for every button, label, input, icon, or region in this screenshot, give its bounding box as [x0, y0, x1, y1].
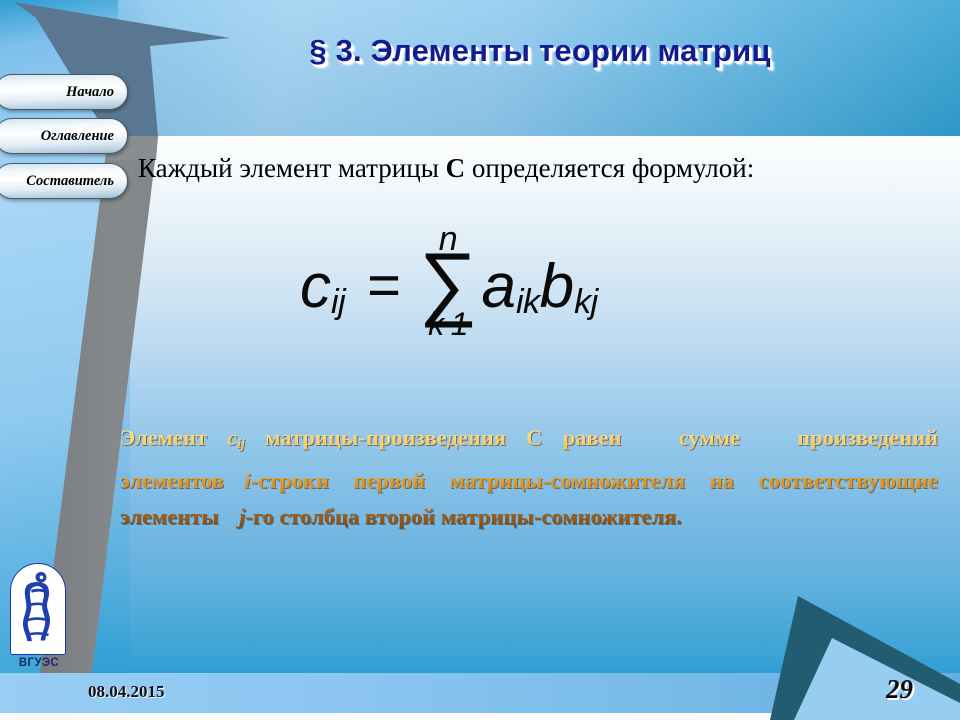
nav-button-contents-label: Оглавление [41, 128, 114, 145]
explanation-paragraph: Элементcijматрицы-произведенияCравен сум… [120, 420, 938, 535]
formula-summation: n ∑ k 1 [419, 224, 477, 340]
nav-button-contents[interactable]: Оглавление [0, 118, 128, 154]
paragraph-part-1: Элемент [120, 425, 207, 450]
formula-term-b-subscript: kj [574, 283, 598, 321]
logo-arch-frame [10, 563, 66, 655]
statement-matrix-symbol: C [446, 153, 466, 183]
paragraph-var-c: cij [227, 425, 245, 450]
university-logo: ВГУЭС [10, 563, 68, 675]
formula-equals-sign: = [367, 252, 401, 319]
nav-button-author[interactable]: Составитель [0, 163, 128, 199]
slide-page-number: 29 [886, 674, 913, 705]
nav-button-author-label: Составитель [26, 173, 114, 190]
slide-date: 08.04.2015 [88, 682, 165, 702]
slide-canvas: § 3. Элементы теории матриц Начало Оглав… [0, 0, 960, 720]
formula-sum-lower-var: k 1 [428, 306, 468, 342]
paragraph-part-5: -го столбца второй матрицы-сомножителя. [245, 504, 682, 529]
logo-label: ВГУЭС [10, 657, 68, 669]
formula-lhs-base: c [300, 252, 331, 321]
statement-text-pre: Каждый элемент матрицы [138, 153, 446, 183]
formula-lhs-subscript: ij [331, 283, 345, 321]
formula-block: cij = n ∑ k 1 aikbkj [300, 210, 598, 326]
statement-line: Каждый элемент матрицы C определяется фо… [138, 153, 754, 184]
formula-term-a-base: a [482, 252, 516, 321]
page-title: § 3. Элементы теории матриц [170, 33, 910, 69]
formula-term-a-subscript: ik [516, 283, 540, 321]
formula-term-b-base: b [540, 252, 574, 321]
formula-rhs-terms: aikbkj [482, 256, 598, 319]
formula-sum-lower-limit: k 1 [428, 308, 468, 340]
statement-text-post: определяется формулой: [465, 153, 754, 183]
logo-figure-icon [11, 564, 66, 655]
formula-lhs: cij [300, 256, 345, 319]
paragraph-part-2: матрицы-произведения [265, 425, 506, 450]
paragraph-matrix-c: C [526, 425, 542, 450]
nav-button-home-label: Начало [66, 84, 114, 101]
nav-button-home[interactable]: Начало [0, 74, 128, 110]
